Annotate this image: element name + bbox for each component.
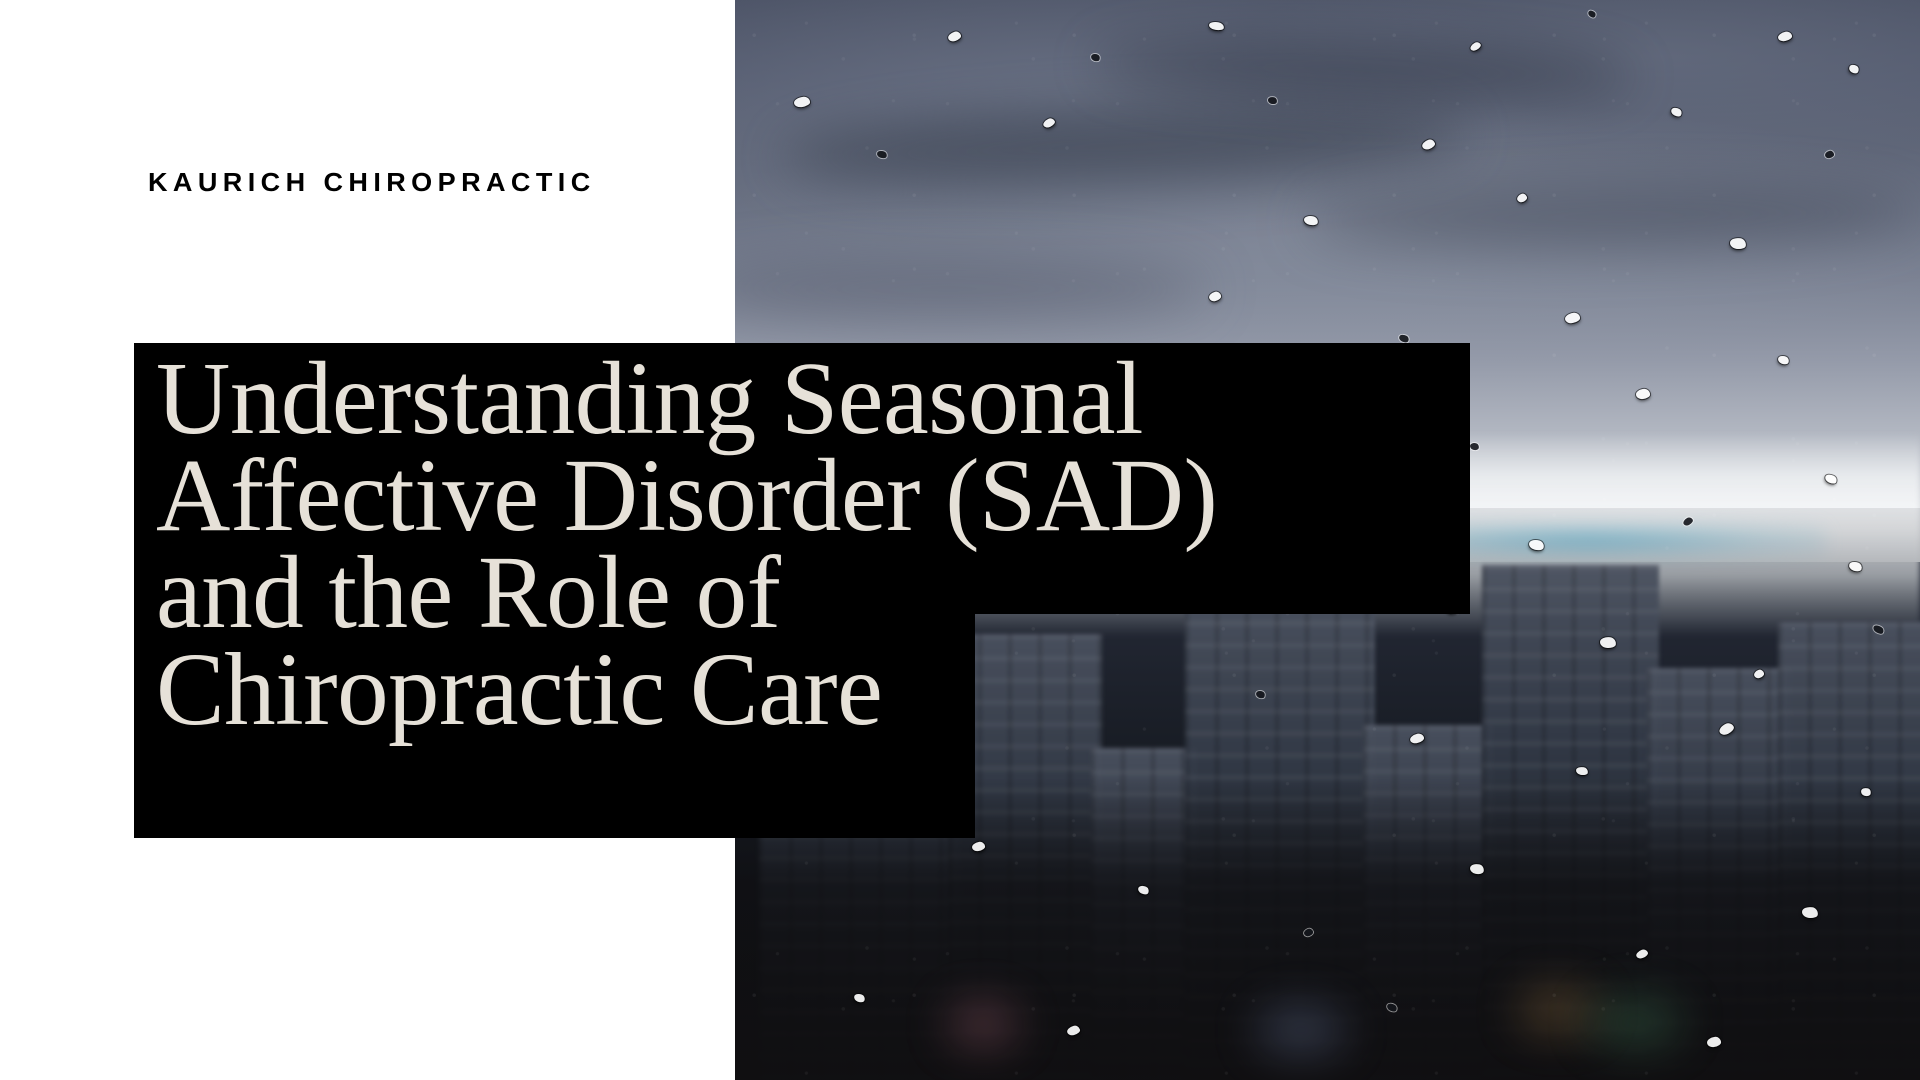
headline-line-4-text: Chiropractic Care: [156, 640, 882, 740]
headline-line-2-text: Affective Disorder (SAD): [156, 446, 1217, 546]
headline-line-3: and the Role of: [156, 543, 1476, 640]
headline-line-1-text: Understanding Seasonal: [156, 349, 1143, 449]
title-card-canvas: KAURICH CHIROPRACTIC Understanding Seaso…: [0, 0, 1920, 1080]
headline-line-1: Understanding Seasonal: [156, 349, 1476, 446]
headline-block: Understanding Seasonal Affective Disorde…: [134, 343, 1474, 843]
brand-wordmark: KAURICH CHIROPRACTIC: [148, 167, 596, 198]
headline-line-4: Chiropractic Care: [156, 640, 1476, 737]
headline-text: Understanding Seasonal Affective Disorde…: [156, 349, 1476, 737]
headline-line-2: Affective Disorder (SAD): [156, 446, 1476, 543]
headline-line-3-text: and the Role of: [156, 543, 780, 643]
